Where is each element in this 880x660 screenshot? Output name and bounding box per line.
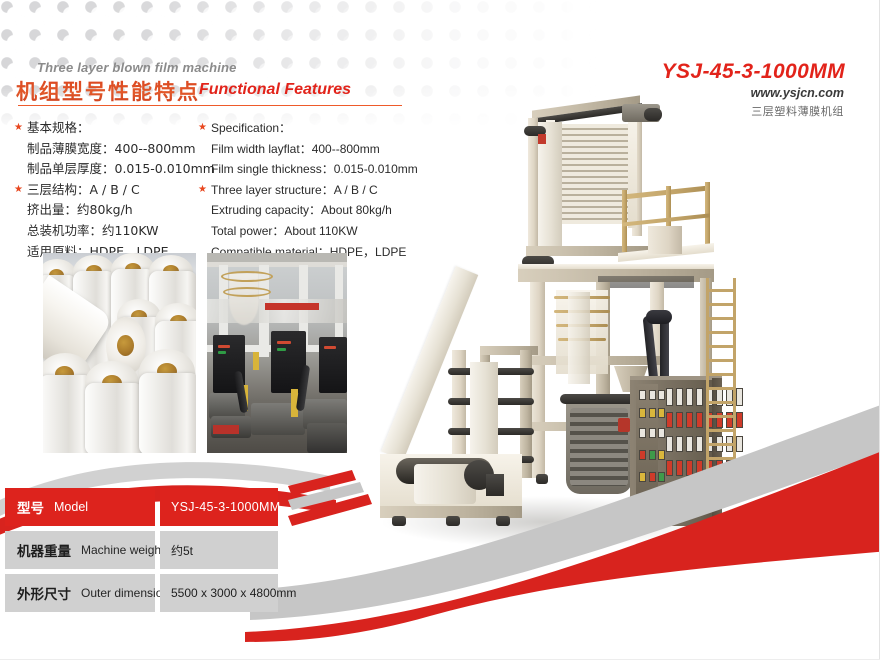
table-value-text: 5500 x 3000 x 4800mm [171,586,296,600]
bullet-spacer: ★ [14,221,27,242]
table-cell-label: 型号Model [5,488,155,526]
spec-text: 基本规格： [27,118,204,139]
header-divider-rule [18,105,402,106]
table-cell-label: 机器重量Machine weight [5,531,155,569]
section-subtitle-en: Three layer blown film machine [37,60,237,75]
star-bullet-icon: ★ [14,180,27,201]
table-row: 外形尺寸Outer dimensions5500 x 3000 x 4800mm [5,574,281,612]
spec-table: 型号ModelYSJ-45-3-1000MM机器重量Machine weight… [5,488,281,617]
star-bullet-icon: ★ [14,118,27,139]
section-title-cn: 机组型号性能特点 [16,76,200,106]
table-cell-value: YSJ-45-3-1000MM [160,488,278,526]
brochure-page: Three layer blown film machine 机组型号性能特点 … [0,0,880,660]
spec-text: 挤出量：约80kg/h [27,200,204,221]
spec-line: ★总装机功率：约110KW [14,221,204,242]
bullet-spacer: ★ [198,200,211,221]
spec-text: 总装机功率：约110KW [27,221,204,242]
bullet-spacer: ★ [14,242,27,263]
spec-line: ★基本规格： [14,118,204,139]
bullet-spacer: ★ [14,139,27,160]
spec-line: ★制品单层厚度：0.015-0.010mm [14,159,204,180]
table-label-cn: 型号 [17,497,44,517]
bullet-spacer: ★ [14,159,27,180]
table-row: 机器重量Machine weight约5t [5,531,281,569]
table-cell-label: 外形尺寸Outer dimensions [5,574,155,612]
star-bullet-icon: ★ [198,180,211,201]
table-value-text: 约5t [171,542,193,559]
table-cell-value: 约5t [160,531,278,569]
spec-text: 制品单层厚度：0.015-0.010mm [27,159,215,180]
table-label-cn: 机器重量 [17,540,71,560]
spec-text: 制品薄膜宽度：400--800mm [27,139,204,160]
table-value-text: YSJ-45-3-1000MM [171,500,280,514]
bullet-spacer: ★ [14,200,27,221]
star-bullet-icon: ★ [198,118,211,139]
spec-line: ★挤出量：约80kg/h [14,200,204,221]
spec-text: 三层结构：A / B / C [27,180,204,201]
table-label-cn: 外形尺寸 [17,583,71,603]
table-row: 型号ModelYSJ-45-3-1000MM [5,488,281,526]
bullet-spacer: ★ [198,159,211,180]
specification-list-cn: ★基本规格：★制品薄膜宽度：400--800mm★制品单层厚度：0.015-0.… [14,118,204,262]
bullet-spacer: ★ [198,139,211,160]
spec-line: ★三层结构：A / B / C [14,180,204,201]
table-label-en: Machine weight [81,543,164,557]
table-cell-value: 5500 x 3000 x 4800mm [160,574,278,612]
table-label-en: Model [54,500,88,514]
bullet-spacer: ★ [198,221,211,242]
spec-line: ★制品薄膜宽度：400--800mm [14,139,204,160]
section-title-en: Functional Features [199,81,351,99]
